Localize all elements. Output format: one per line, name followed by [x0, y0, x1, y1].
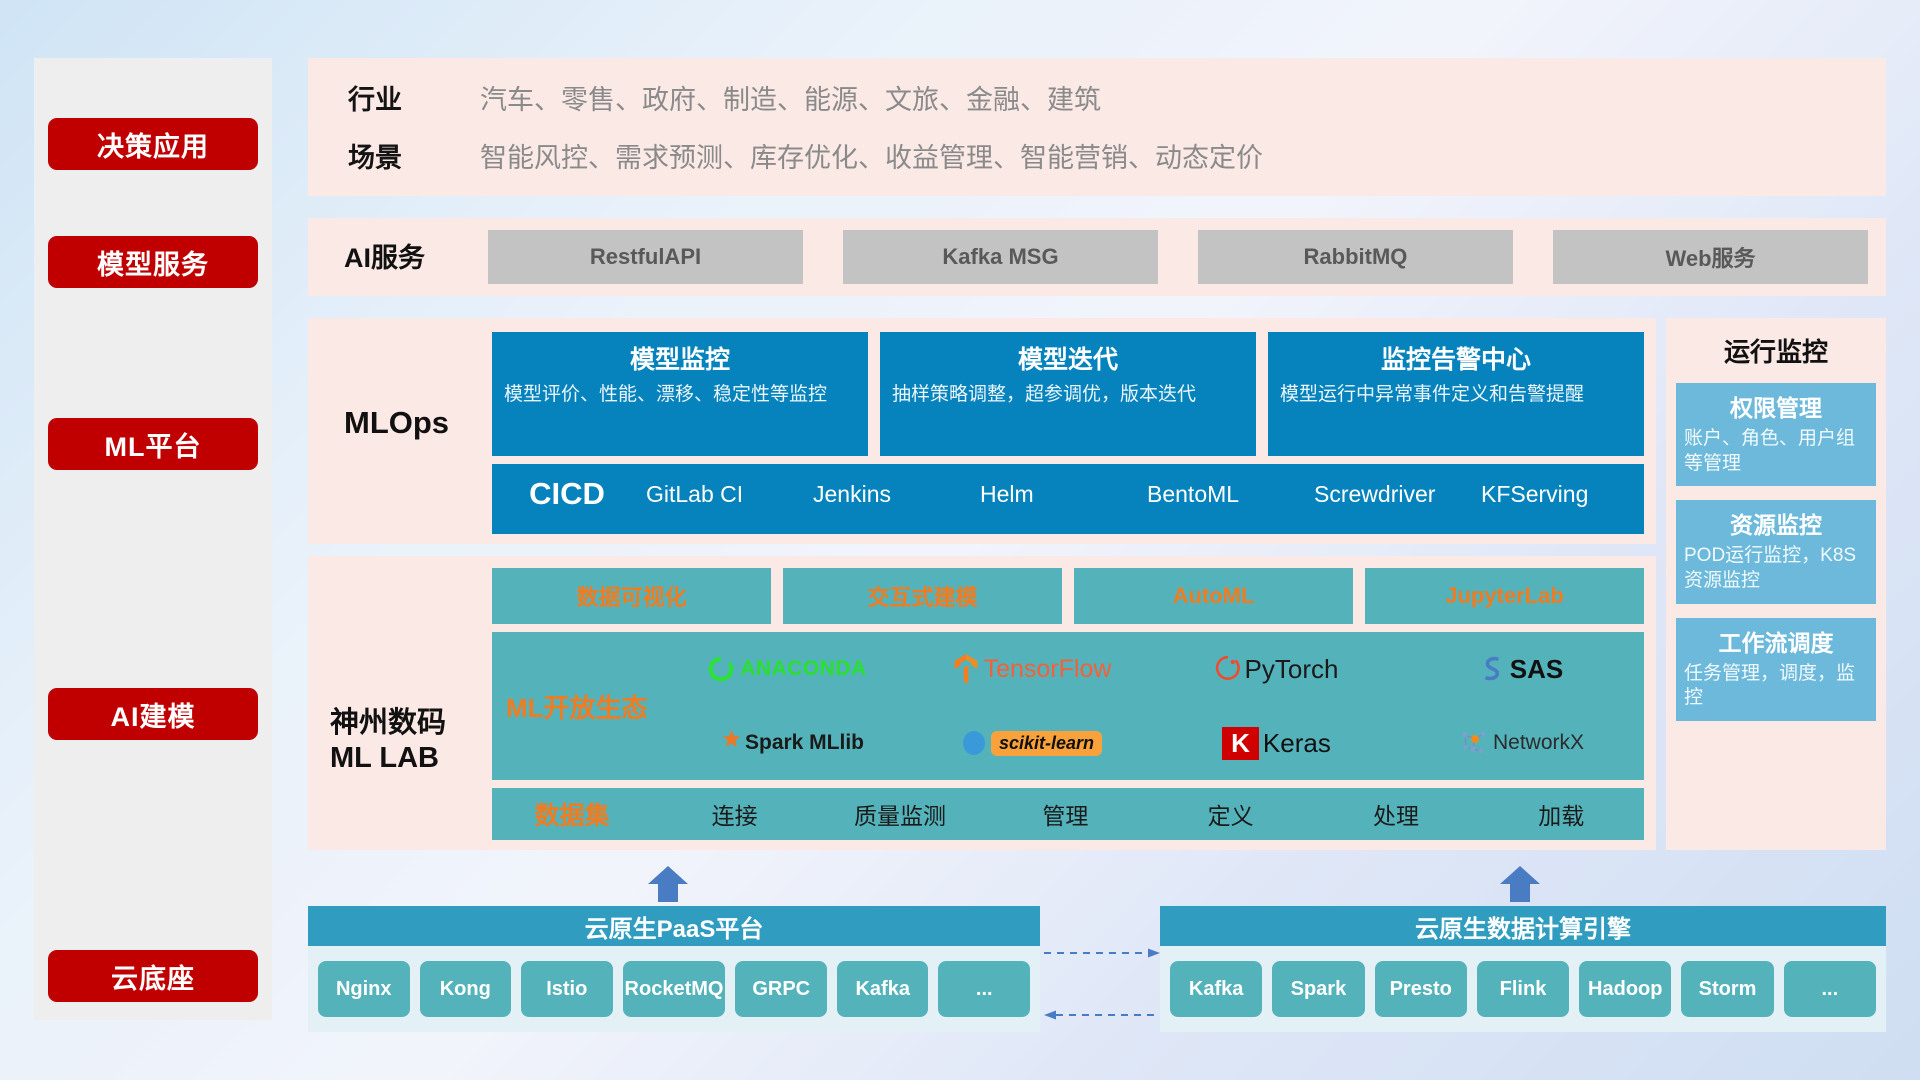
rail-item-cloud-base[interactable]: 云底座: [48, 950, 258, 1002]
compute-chip-hadoop[interactable]: Hadoop: [1579, 961, 1671, 1017]
compute-engine-title: 云原生数据计算引擎: [1160, 906, 1886, 946]
spark-mllib-wordmark: Spark MLlib: [745, 731, 864, 755]
sas-icon: [1480, 655, 1506, 683]
rail-item-ml-platform[interactable]: ML平台: [48, 418, 258, 470]
paas-chip-rocketmq[interactable]: RocketMQ: [623, 961, 726, 1017]
pytorch-icon: [1215, 654, 1241, 684]
industry-values: 汽车、零售、政府、制造、能源、文旅、金融、建筑: [480, 78, 1101, 117]
rail-item-ai-modeling[interactable]: AI建模: [48, 688, 258, 740]
monitoring-title: 运行监控: [1666, 318, 1886, 369]
paas-title: 云原生PaaS平台: [308, 906, 1040, 946]
ai-modeling-band: 神州数码 ML LAB 数据可视化 交互式建模 AutoML JupyterLa…: [308, 556, 1656, 850]
monitoring-card-workflow[interactable]: 工作流调度 任务管理，调度，监控: [1676, 618, 1876, 721]
cicd-item-gitlab-ci[interactable]: GitLab CI: [642, 464, 809, 509]
cicd-title: CICD: [492, 464, 642, 512]
sas-wordmark: SAS: [1510, 654, 1563, 685]
service-button-kafka-msg[interactable]: Kafka MSG: [843, 230, 1158, 284]
paas-chip-kong[interactable]: Kong: [420, 961, 512, 1017]
card-title: 资源监控: [1684, 506, 1868, 540]
ml-lab-label-line2: ML LAB: [330, 741, 446, 776]
tool-chip-jupyterlab[interactable]: JupyterLab: [1365, 568, 1644, 624]
card-description: 任务管理，调度，监控: [1684, 662, 1868, 711]
networkx-icon: [1459, 729, 1489, 757]
keras-icon: K: [1222, 727, 1259, 760]
paas-chip-more[interactable]: ...: [938, 961, 1030, 1017]
cicd-item-kfserving[interactable]: KFServing: [1477, 464, 1644, 509]
layer-rail: 决策应用 模型服务 ML平台 AI建模 云底座: [34, 58, 272, 1020]
card-description: 账户、角色、用户组等管理: [1684, 427, 1868, 476]
cloud-native-paas-group: 云原生PaaS平台 Nginx Kong Istio RocketMQ GRPC…: [308, 906, 1040, 1036]
cicd-item-bentoml[interactable]: BentoML: [1143, 464, 1310, 509]
cicd-bar: CICD GitLab CI Jenkins Helm BentoML Scre…: [492, 464, 1644, 534]
dataset-item-quality-monitoring[interactable]: 质量监测: [817, 797, 982, 831]
ai-service-button-group: RestfulAPI Kafka MSG RabbitMQ Web服务: [488, 230, 1868, 284]
cloud-native-compute-group: 云原生数据计算引擎 Kafka Spark Presto Flink Hadoo…: [1160, 906, 1886, 1036]
compute-chip-storm[interactable]: Storm: [1681, 961, 1773, 1017]
rail-item-label: 模型服务: [97, 243, 209, 282]
scikit-learn-wordmark: scikit-learn: [991, 731, 1102, 756]
compute-chip-kafka[interactable]: Kafka: [1170, 961, 1262, 1017]
ml-lab-label: 神州数码 ML LAB: [330, 706, 446, 777]
dataset-item-processing[interactable]: 处理: [1313, 797, 1478, 831]
card-title: 监控告警中心: [1280, 340, 1632, 376]
paas-chip-grpc[interactable]: GRPC: [735, 961, 827, 1017]
dataset-item-loading[interactable]: 加载: [1479, 797, 1644, 831]
monitoring-card-resources[interactable]: 资源监控 POD运行监控，K8S资源监控: [1676, 500, 1876, 603]
spark-star-icon: [709, 728, 741, 758]
paas-chip-nginx[interactable]: Nginx: [318, 961, 410, 1017]
paas-chip-istio[interactable]: Istio: [521, 961, 613, 1017]
ml-ecosystem-label: ML开放生态: [492, 688, 664, 725]
tool-chip-data-visualization[interactable]: 数据可视化: [492, 568, 771, 624]
compute-chip-group: Kafka Spark Presto Flink Hadoop Storm ..…: [1160, 946, 1886, 1032]
mlops-card-model-iteration[interactable]: 模型迭代 抽样策略调整，超参调优，版本迭代: [880, 332, 1256, 456]
application-row-industry: 行业 汽车、零售、政府、制造、能源、文旅、金融、建筑: [348, 78, 1101, 117]
rail-item-label: ML平台: [105, 425, 202, 464]
up-arrow-compute-icon: [1498, 866, 1542, 902]
card-title: 权限管理: [1684, 389, 1868, 423]
dataset-title: 数据集: [492, 796, 652, 832]
keras-wordmark: Keras: [1263, 728, 1331, 759]
pytorch-wordmark: PyTorch: [1245, 654, 1339, 685]
rail-item-label: 云底座: [111, 957, 195, 996]
application-row-scenario: 场景 智能风控、需求预测、库存优化、收益管理、智能营销、动态定价: [348, 136, 1263, 175]
tensorflow-logo: TensorFlow: [952, 653, 1112, 685]
networkx-logo: NetworkX: [1459, 729, 1584, 757]
dashed-arrow-right-icon: [1044, 948, 1160, 958]
dataset-item-definition[interactable]: 定义: [1148, 797, 1313, 831]
ai-service-band: AI服务 RestfulAPI Kafka MSG RabbitMQ Web服务: [308, 218, 1886, 296]
service-button-rabbitmq[interactable]: RabbitMQ: [1198, 230, 1513, 284]
cicd-item-helm[interactable]: Helm: [976, 464, 1143, 509]
card-title: 模型迭代: [892, 340, 1244, 376]
service-button-restfulapi[interactable]: RestfulAPI: [488, 230, 803, 284]
paas-chip-group: Nginx Kong Istio RocketMQ GRPC Kafka ...: [308, 946, 1040, 1032]
spark-mllib-logo: Spark MLlib: [709, 728, 864, 758]
anaconda-wordmark: ANACONDA: [740, 657, 867, 681]
service-button-web[interactable]: Web服务: [1553, 230, 1868, 284]
card-description: POD运行监控，K8S资源监控: [1684, 544, 1868, 593]
rail-item-label: AI建模: [111, 695, 196, 734]
compute-chip-spark[interactable]: Spark: [1272, 961, 1364, 1017]
ml-lab-label-line1: 神州数码: [330, 706, 446, 741]
card-title: 工作流调度: [1684, 624, 1868, 658]
runtime-monitoring-panel: 运行监控 权限管理 账户、角色、用户组等管理 资源监控 POD运行监控，K8S资…: [1666, 318, 1886, 850]
tool-chip-automl[interactable]: AutoML: [1074, 568, 1353, 624]
card-description: 抽样策略调整，超参调优，版本迭代: [892, 382, 1244, 407]
cicd-item-jenkins[interactable]: Jenkins: [809, 464, 976, 509]
card-title: 模型监控: [504, 340, 856, 376]
pytorch-logo: PyTorch: [1215, 654, 1339, 685]
mlops-card-alert-center[interactable]: 监控告警中心 模型运行中异常事件定义和告警提醒: [1268, 332, 1644, 456]
compute-chip-more[interactable]: ...: [1784, 961, 1876, 1017]
tensorflow-wordmark: TensorFlow: [984, 655, 1112, 684]
compute-chip-presto[interactable]: Presto: [1375, 961, 1467, 1017]
industry-key: 行业: [348, 78, 480, 117]
up-arrow-paas-icon: [646, 866, 690, 902]
card-description: 模型运行中异常事件定义和告警提醒: [1280, 382, 1632, 407]
anaconda-icon: [706, 654, 736, 684]
mlops-band: MLOps 模型监控 模型评价、性能、漂移、稳定性等监控 模型迭代 抽样策略调整…: [308, 318, 1656, 544]
scikit-learn-icon: [961, 730, 987, 756]
dataset-item-connect[interactable]: 连接: [652, 797, 817, 831]
scikit-learn-logo: scikit-learn: [961, 730, 1102, 756]
scenario-key: 场景: [348, 136, 480, 175]
ml-ecosystem-box: ML开放生态 ANACONDA TensorFlow: [492, 632, 1644, 780]
keras-logo: K Keras: [1222, 727, 1331, 760]
rail-item-label: 决策应用: [97, 125, 209, 164]
monitoring-card-permissions[interactable]: 权限管理 账户、角色、用户组等管理: [1676, 383, 1876, 486]
scenario-values: 智能风控、需求预测、库存优化、收益管理、智能营销、动态定价: [480, 136, 1263, 175]
modeling-tool-group: 数据可视化 交互式建模 AutoML JupyterLab: [492, 568, 1644, 624]
ai-service-label: AI服务: [344, 242, 425, 275]
anaconda-logo: ANACONDA: [706, 654, 867, 684]
mlops-card-group: 模型监控 模型评价、性能、漂移、稳定性等监控 模型迭代 抽样策略调整，超参调优，…: [492, 332, 1644, 456]
tool-chip-interactive-modeling[interactable]: 交互式建模: [783, 568, 1062, 624]
rail-item-decision-apps[interactable]: 决策应用: [48, 118, 258, 170]
rail-item-model-service[interactable]: 模型服务: [48, 236, 258, 288]
dashed-arrow-left-icon: [1044, 1010, 1160, 1020]
sas-logo: SAS: [1480, 654, 1563, 685]
tensorflow-icon: [952, 653, 980, 685]
compute-chip-flink[interactable]: Flink: [1477, 961, 1569, 1017]
card-description: 模型评价、性能、漂移、稳定性等监控: [504, 382, 856, 407]
applications-band: 行业 汽车、零售、政府、制造、能源、文旅、金融、建筑 场景 智能风控、需求预测、…: [308, 58, 1886, 196]
dataset-bar: 数据集 连接 质量监测 管理 定义 处理 加载: [492, 788, 1644, 840]
cicd-item-screwdriver[interactable]: Screwdriver: [1310, 464, 1477, 509]
mlops-label: MLOps: [344, 404, 449, 442]
mlops-card-model-monitoring[interactable]: 模型监控 模型评价、性能、漂移、稳定性等监控: [492, 332, 868, 456]
ecosystem-logo-grid: ANACONDA TensorFlow PyTorch: [664, 632, 1644, 780]
paas-chip-kafka[interactable]: Kafka: [837, 961, 929, 1017]
networkx-wordmark: NetworkX: [1493, 731, 1584, 755]
dataset-item-management[interactable]: 管理: [983, 797, 1148, 831]
